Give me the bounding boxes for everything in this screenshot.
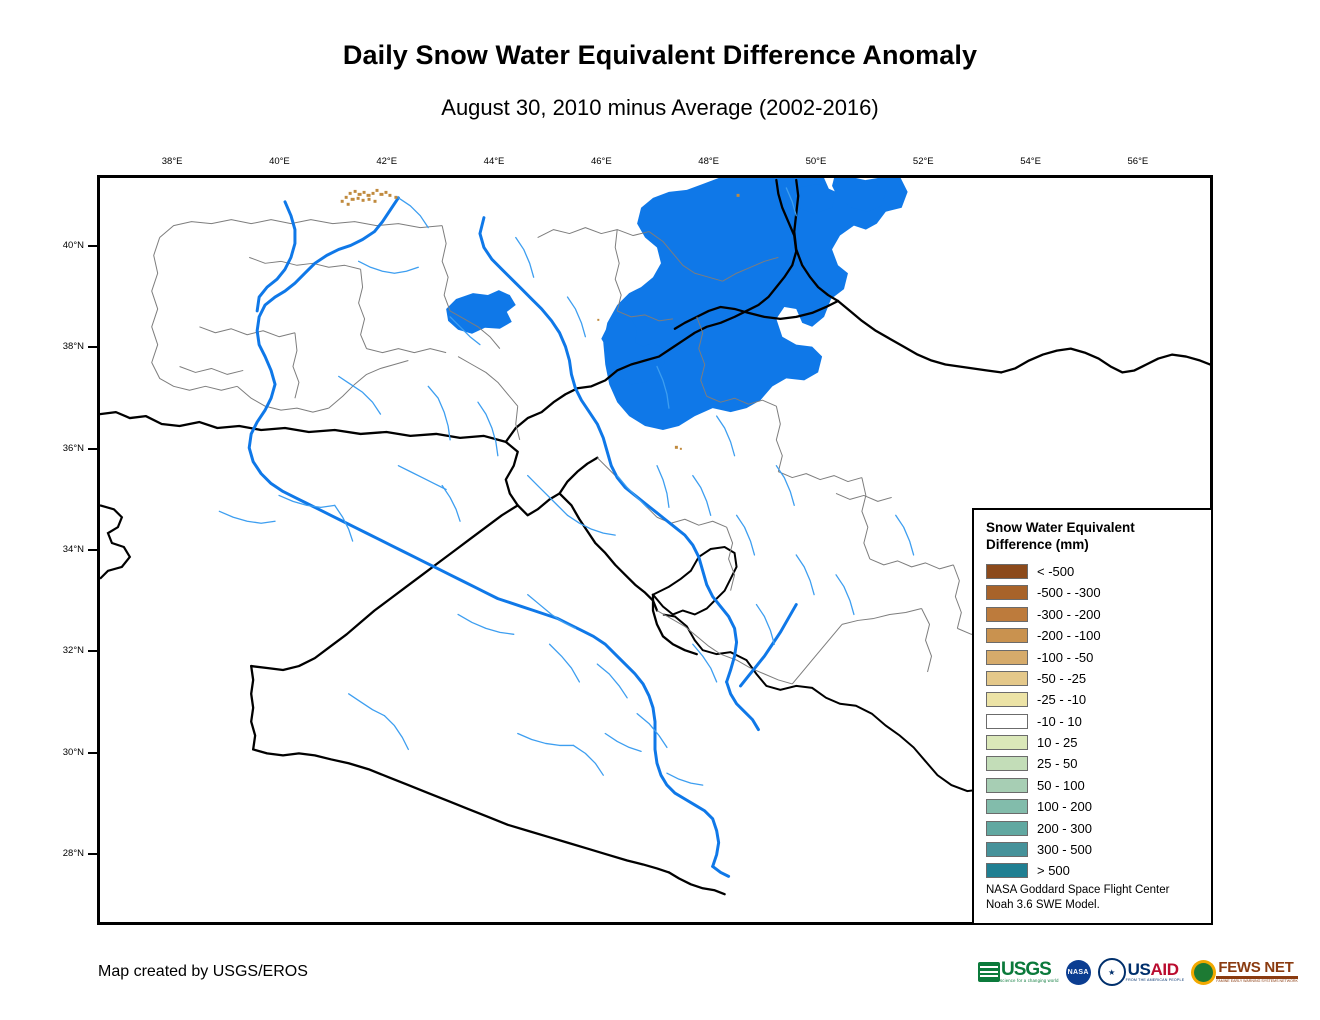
longitude-tick-label: 42°E — [364, 156, 410, 167]
page-subtitle: August 30, 2010 minus Average (2002-2016… — [0, 95, 1320, 121]
latitude-tick-mark — [88, 346, 97, 348]
longitude-tick-label: 40°E — [256, 156, 302, 167]
latitude-tick-label: 32°N — [38, 645, 84, 656]
legend-row: 10 - 25 — [986, 732, 1211, 753]
legend-row: -200 - -100 — [986, 625, 1211, 646]
legend-swatch — [986, 607, 1028, 622]
legend-label: < -500 — [1037, 564, 1074, 579]
legend-swatch — [986, 564, 1028, 579]
legend-label: 50 - 100 — [1037, 778, 1085, 793]
legend-swatch — [986, 863, 1028, 878]
legend-swatch — [986, 778, 1028, 793]
nasa-logo[interactable]: NASA — [1066, 955, 1091, 989]
legend-row: -10 - 10 — [986, 710, 1211, 731]
legend-row: < -500 — [986, 561, 1211, 582]
legend-source-note: NASA Goddard Space Flight Center Noah 3.… — [986, 883, 1169, 914]
latitude-tick-mark — [88, 245, 97, 247]
latitude-tick-label: 30°N — [38, 747, 84, 758]
legend-row: 300 - 500 — [986, 839, 1211, 860]
map-legend[interactable]: Snow Water Equivalent Difference (mm) < … — [972, 508, 1213, 925]
latitude-tick-label: 38°N — [38, 341, 84, 352]
latitude-tick-mark — [88, 853, 97, 855]
usaid-wordmark: USAID — [1128, 962, 1185, 977]
legend-row: 200 - 300 — [986, 817, 1211, 838]
legend-row: -100 - -50 — [986, 646, 1211, 667]
latitude-tick-mark — [88, 650, 97, 652]
longitude-tick-label: 38°E — [149, 156, 195, 167]
legend-row: -50 - -25 — [986, 668, 1211, 689]
usaid-seal-icon: ★ — [1098, 958, 1126, 986]
mediterranean-coast — [100, 505, 130, 578]
iraq-kuwait-coast — [653, 547, 737, 614]
legend-row: 100 - 200 — [986, 796, 1211, 817]
anomaly-patch-turkey — [341, 189, 398, 206]
legend-title: Snow Water Equivalent Difference (mm) — [986, 520, 1211, 554]
legend-label: 100 - 200 — [1037, 799, 1092, 814]
legend-label: -25 - -10 — [1037, 692, 1086, 707]
latitude-tick-label: 34°N — [38, 544, 84, 555]
fewsnet-tagline: FAMINE EARLY WARNING SYSTEMS NETWORK — [1216, 979, 1298, 983]
latitude-tick-mark — [88, 448, 97, 450]
legend-swatch — [986, 714, 1028, 729]
agency-logos: USGS science for a changing world NASA ★… — [978, 953, 1298, 991]
legend-swatch — [986, 756, 1028, 771]
nasa-meatball-icon: NASA — [1066, 960, 1091, 985]
legend-label: 300 - 500 — [1037, 842, 1092, 857]
legend-class-list: < -500-500 - -300-300 - -200-200 - -100-… — [986, 561, 1211, 882]
fewsnet-wordmark: FEWS NET — [1218, 961, 1298, 975]
lake-van-water — [446, 290, 516, 334]
legend-swatch — [986, 842, 1028, 857]
usgs-tagline: science for a changing world — [1000, 978, 1059, 983]
latitude-tick-label: 36°N — [38, 443, 84, 454]
fewsnet-globe-icon — [1191, 960, 1216, 985]
legend-swatch — [986, 671, 1028, 686]
latitude-tick-mark — [88, 752, 97, 754]
legend-label: -500 - -300 — [1037, 585, 1101, 600]
longitude-tick-label: 48°E — [686, 156, 732, 167]
legend-label: -300 - -200 — [1037, 607, 1101, 622]
legend-label: -10 - 10 — [1037, 714, 1082, 729]
legend-swatch — [986, 821, 1028, 836]
legend-swatch — [986, 628, 1028, 643]
legend-title-line1: Snow Water Equivalent — [986, 520, 1211, 537]
longitude-tick-label: 46°E — [578, 156, 624, 167]
legend-label: -100 - -50 — [1037, 650, 1093, 665]
legend-label: > 500 — [1037, 863, 1070, 878]
latitude-tick-mark — [88, 549, 97, 551]
legend-row: 50 - 100 — [986, 775, 1211, 796]
admin-boundaries — [152, 220, 1013, 684]
legend-note-line1: NASA Goddard Space Flight Center — [986, 883, 1169, 899]
longitude-tick-label: 54°E — [1008, 156, 1054, 167]
usaid-tagline: FROM THE AMERICAN PEOPLE — [1126, 978, 1185, 982]
caspian-sea-water — [603, 178, 907, 430]
latitude-tick-label: 28°N — [38, 848, 84, 859]
usgs-logo[interactable]: USGS science for a changing world — [978, 955, 1059, 989]
legend-note-line2: Noah 3.6 SWE Model. — [986, 898, 1169, 914]
usgs-wordmark: USGS — [1001, 961, 1059, 978]
longitude-tick-label: 44°E — [471, 156, 517, 167]
legend-row: > 500 — [986, 860, 1211, 881]
longitude-tick-label: 52°E — [900, 156, 946, 167]
fewsnet-logo[interactable]: FEWS NET FAMINE EARLY WARNING SYSTEMS NE… — [1191, 955, 1298, 989]
legend-row: 25 - 50 — [986, 753, 1211, 774]
legend-swatch — [986, 650, 1028, 665]
legend-row: -25 - -10 — [986, 689, 1211, 710]
legend-label: 10 - 25 — [1037, 735, 1077, 750]
legend-label: 25 - 50 — [1037, 756, 1077, 771]
page-title: Daily Snow Water Equivalent Difference A… — [0, 40, 1320, 71]
legend-row: -300 - -200 — [986, 604, 1211, 625]
legend-row: -500 - -300 — [986, 582, 1211, 603]
latitude-tick-label: 40°N — [38, 240, 84, 251]
legend-swatch — [986, 692, 1028, 707]
usgs-wave-icon — [978, 962, 1000, 982]
legend-swatch — [986, 585, 1028, 600]
legend-label: 200 - 300 — [1037, 821, 1092, 836]
legend-label: -200 - -100 — [1037, 628, 1101, 643]
legend-title-line2: Difference (mm) — [986, 537, 1211, 554]
map-credit: Map created by USGS/EROS — [98, 963, 308, 981]
legend-swatch — [986, 799, 1028, 814]
longitude-tick-label: 56°E — [1115, 156, 1161, 167]
legend-label: -50 - -25 — [1037, 671, 1086, 686]
longitude-tick-label: 50°E — [793, 156, 839, 167]
usaid-logo[interactable]: ★ USAID FROM THE AMERICAN PEOPLE — [1098, 955, 1185, 989]
legend-swatch — [986, 735, 1028, 750]
